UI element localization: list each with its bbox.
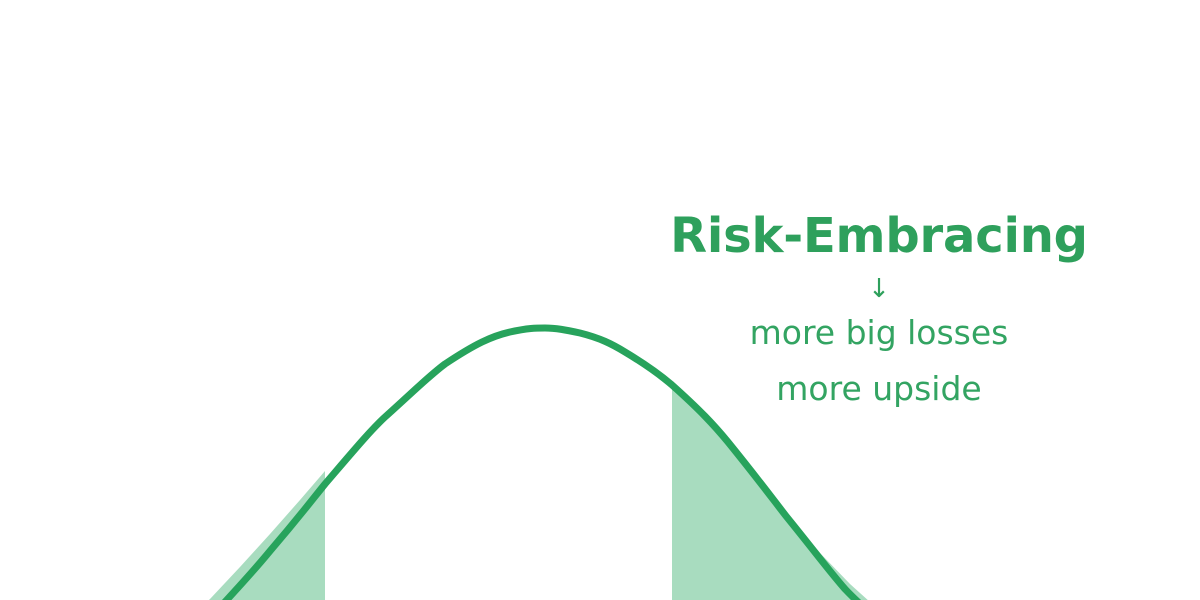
distribution-chart <box>0 0 1200 600</box>
chart-background <box>0 0 1200 600</box>
